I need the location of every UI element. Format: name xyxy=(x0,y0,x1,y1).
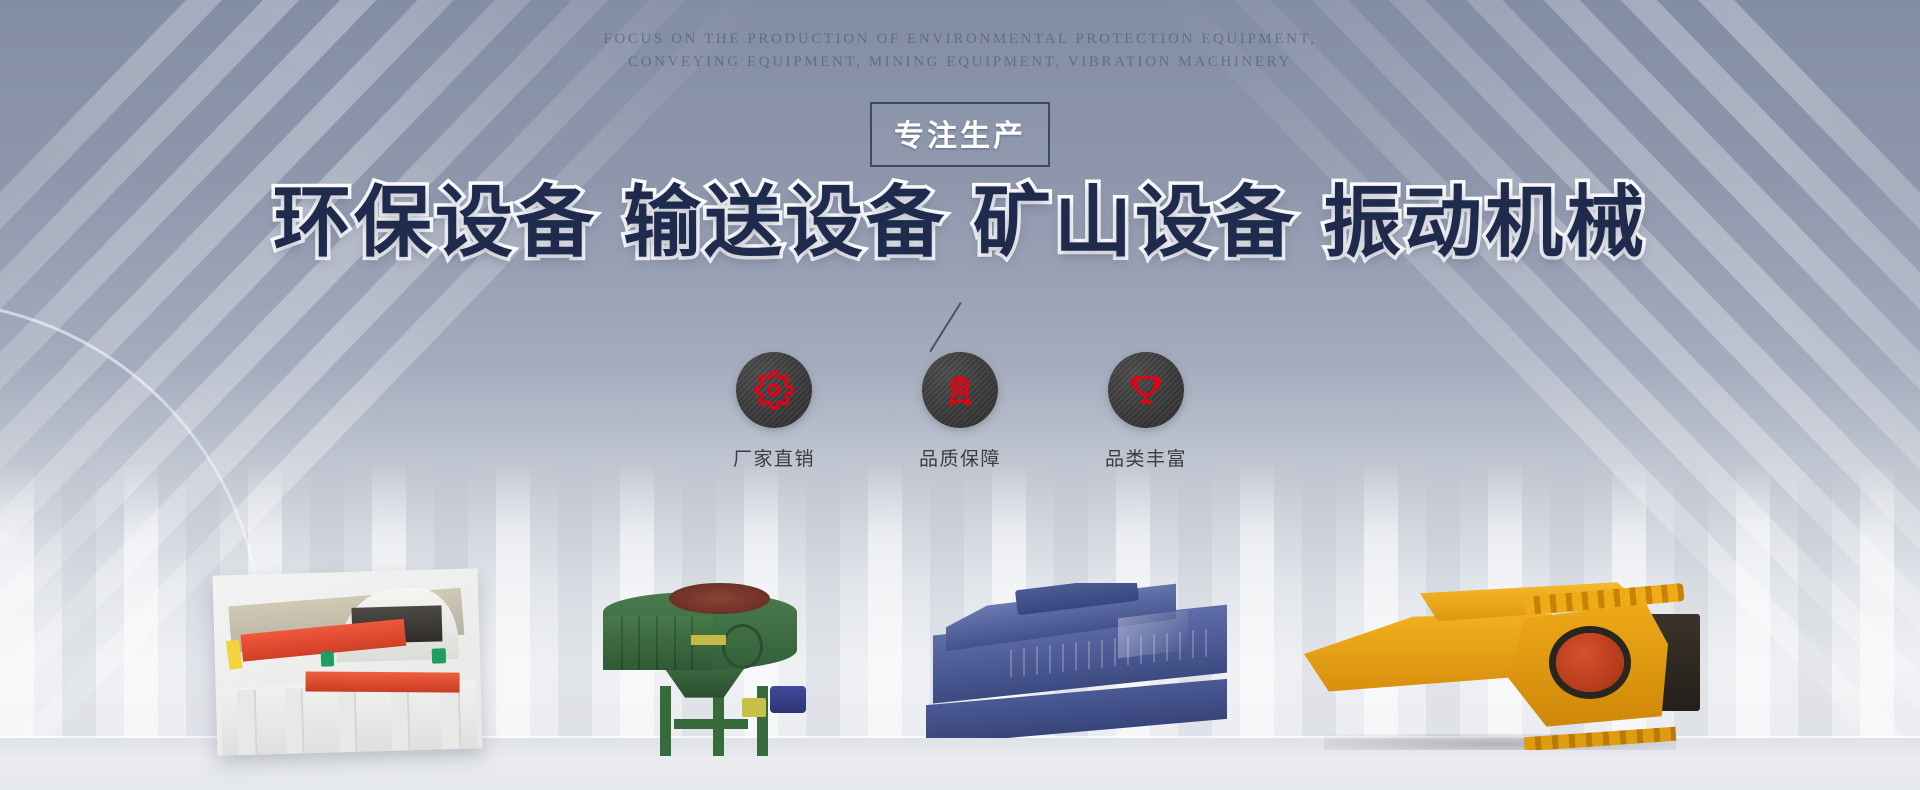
product-image-circular-vibrating-feeder xyxy=(590,565,810,760)
headline-part-1: 环保设备 xyxy=(273,179,597,266)
medal-icon xyxy=(922,352,998,428)
product-image-conveyor-screening-plant xyxy=(213,568,483,755)
gear-icon xyxy=(736,352,812,428)
page-title: 环保设备输送设备矿山设备振动机械 xyxy=(0,160,1920,272)
headline-part-3: 矿山设备 xyxy=(973,179,1297,266)
product-image-blue-vibrating-screen xyxy=(920,583,1240,738)
trophy-icon xyxy=(1108,352,1184,428)
product-image-yellow-jaw-crusher xyxy=(1300,555,1700,750)
eyebrow-text: FOCUS ON THE PRODUCTION OF ENVIRONMENTAL… xyxy=(0,28,1920,74)
product-gallery xyxy=(0,430,1920,790)
hero-banner: FOCUS ON THE PRODUCTION OF ENVIRONMENTAL… xyxy=(0,0,1920,790)
headline-part-2: 输送设备 xyxy=(623,179,947,266)
decorative-slash xyxy=(960,302,1006,348)
headline-part-4: 振动机械 xyxy=(1323,179,1647,266)
focus-badge: 专注生产 xyxy=(870,102,1050,167)
